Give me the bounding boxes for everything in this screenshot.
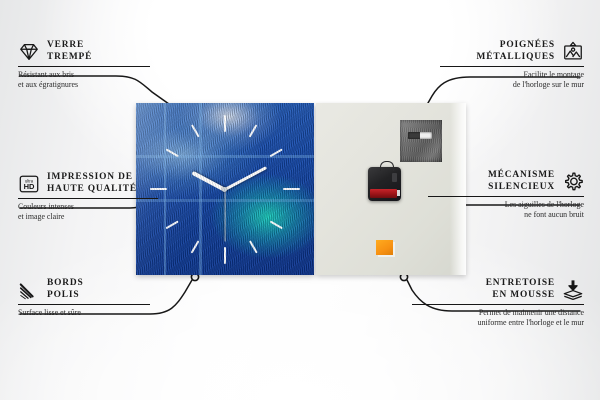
feature-desc: Résistant aux bris et aux égratignures	[18, 70, 150, 90]
feature-rule	[412, 304, 584, 305]
hour-mark	[191, 240, 200, 253]
product-image	[136, 103, 466, 275]
hour-mark	[166, 148, 179, 157]
svg-text:HD: HD	[24, 182, 35, 191]
movement-knob	[392, 173, 397, 182]
feature-rule	[440, 66, 584, 67]
feature-bords-polis: BORDS POLIS Surface lisse et sûre	[18, 278, 150, 318]
foam-spacer	[376, 240, 393, 255]
feature-impression-haute-qualite: ultra HD IMPRESSION DE HAUTE QUALITÉ Cou…	[18, 172, 158, 222]
movement-hook	[380, 161, 394, 171]
feature-mecanisme-silencieux: MÉCANISME SILENCIEUX Les aiguilles de l'…	[428, 170, 584, 220]
feature-rule	[428, 196, 584, 197]
glass-clock-face	[136, 103, 314, 275]
hour-mark	[224, 115, 226, 132]
minute-hand	[224, 166, 267, 191]
feature-rule	[18, 66, 150, 67]
picture-frame-hanger-icon	[562, 41, 584, 63]
hour-mark	[270, 220, 283, 229]
feature-rule	[18, 304, 150, 305]
hands-center-pin	[222, 187, 227, 192]
hour-mark	[191, 124, 200, 137]
hanger-slot	[408, 132, 432, 139]
hour-mark	[270, 148, 283, 157]
feature-desc: Couleurs intenses et image claire	[18, 202, 158, 222]
hour-mark	[249, 124, 258, 137]
feature-poignees-metalliques: POIGNÉES MÉTALLIQUES Facilite le montage…	[440, 40, 584, 90]
hour-mark	[249, 240, 258, 253]
feature-title: POIGNÉES MÉTALLIQUES	[477, 40, 555, 63]
glass-gloss-overlay	[136, 103, 314, 275]
feature-verre-trempe: VERRE TREMPÉ Résistant aux bris et aux é…	[18, 40, 150, 90]
feature-rule	[18, 198, 158, 199]
feature-title: BORDS POLIS	[47, 278, 84, 301]
hour-hand	[191, 171, 226, 192]
feature-title: ENTRETOISE EN MOUSSE	[486, 278, 555, 301]
second-hand	[224, 190, 225, 242]
feature-desc: Surface lisse et sûre	[18, 308, 150, 318]
hour-mark	[283, 188, 300, 190]
hour-mark	[166, 220, 179, 229]
foam-spacer-arrow-icon	[562, 279, 584, 301]
feature-desc: Permet de maintenir une distance uniform…	[412, 308, 584, 328]
feature-desc: Facilite le montage de l'horloge sur le …	[440, 70, 584, 90]
gear-icon	[562, 171, 584, 193]
feature-desc: Les aiguilles de l'horloge ne font aucun…	[428, 200, 584, 220]
polished-edges-icon	[18, 279, 40, 301]
battery	[370, 189, 397, 198]
metal-hanger-plate	[400, 120, 442, 162]
ultra-hd-badge-icon: ultra HD	[18, 173, 40, 195]
feature-title: VERRE TREMPÉ	[47, 40, 92, 63]
infographic-canvas: VERRE TREMPÉ Résistant aux bris et aux é…	[0, 0, 600, 400]
hour-mark	[224, 247, 226, 264]
feature-title: MÉCANISME SILENCIEUX	[488, 170, 555, 193]
feature-title: IMPRESSION DE HAUTE QUALITÉ	[47, 172, 137, 195]
diamond-icon	[18, 41, 40, 63]
quartz-movement	[368, 167, 401, 201]
feature-entretoise-en-mousse: ENTRETOISE EN MOUSSE Permet de maintenir…	[412, 278, 584, 328]
